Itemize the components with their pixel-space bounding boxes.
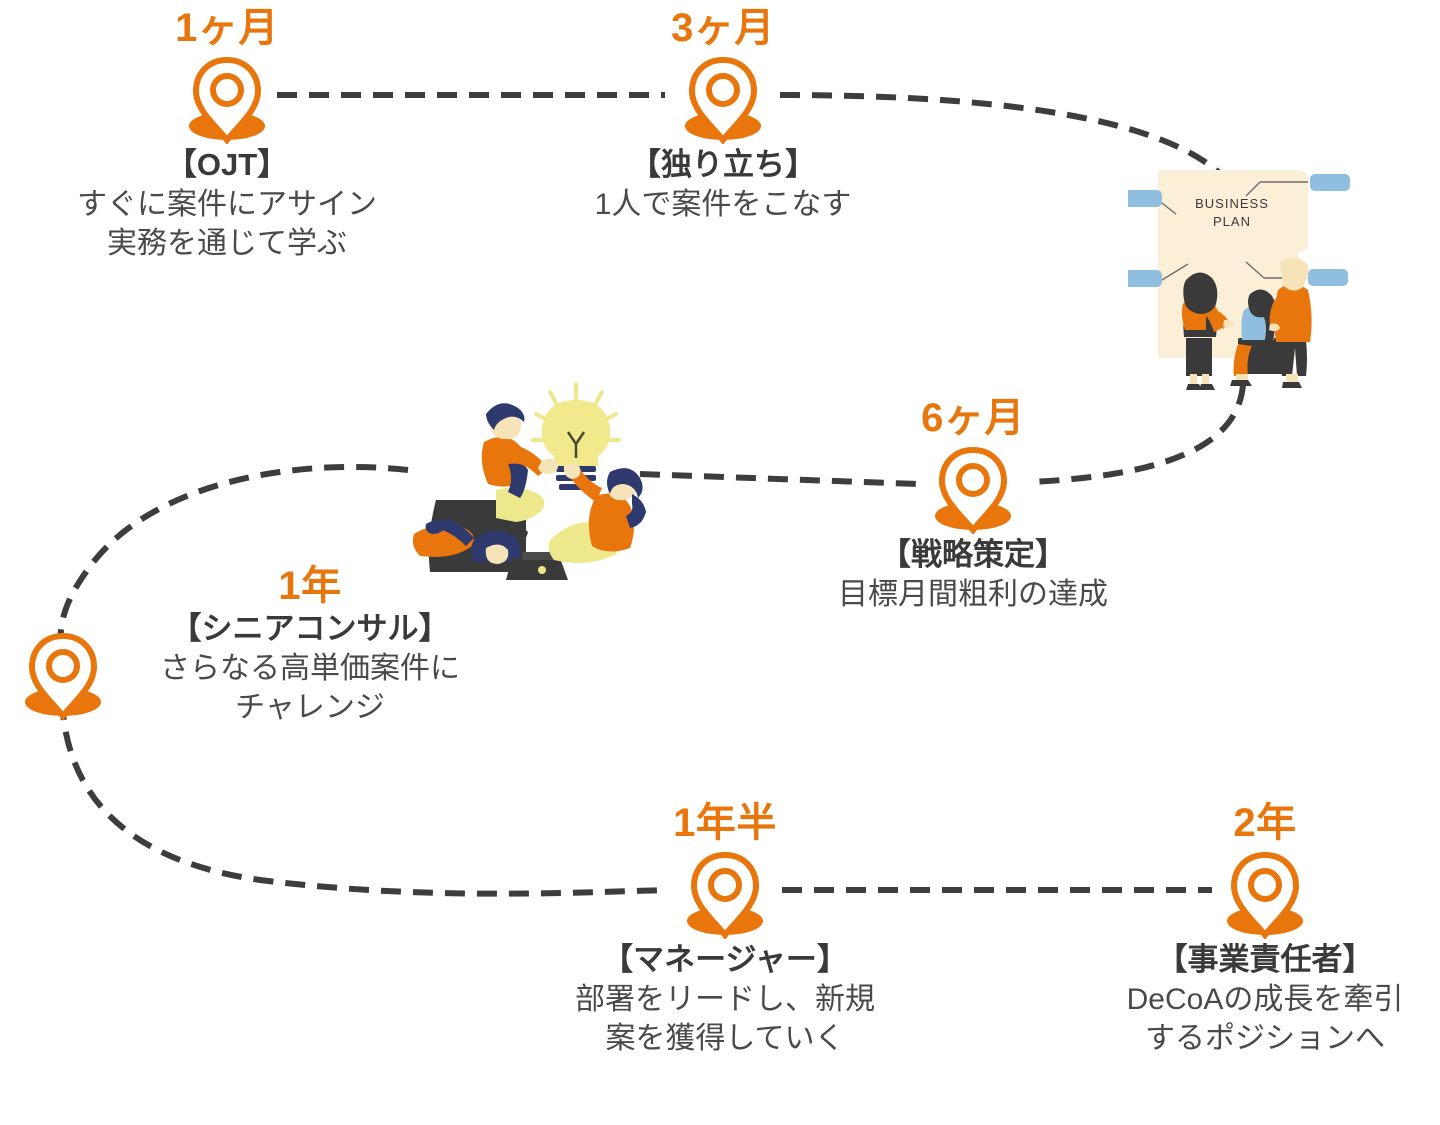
milestone-title: 【OJT】 (17, 146, 437, 185)
milestone-period: 6ヶ月 (763, 398, 1183, 438)
idea-lightbulb-illustration (400, 372, 664, 582)
map-pin-icon (763, 438, 1183, 534)
milestone-title: 【戦略策定】 (763, 536, 1183, 575)
milestone-manager[interactable]: 1年半 【マネージャー】 部署をリードし、新規 案を獲得していく (515, 803, 935, 1058)
roadmap-canvas: BUSINESS PLAN (0, 0, 1440, 1125)
milestone-period: 3ヶ月 (513, 8, 933, 48)
milestone-period: 2年 (1055, 803, 1440, 843)
milestone-desc: 1人で案件をこなす (513, 185, 933, 224)
milestone-ojt[interactable]: 1ヶ月 【OJT】 すぐに案件にアサイン 実務を通じて学ぶ (17, 8, 437, 263)
board-title-line1: BUSINESS (1195, 196, 1269, 211)
milestone-title: 【シニアコンサル】 (110, 610, 510, 649)
milestone-strategy[interactable]: 6ヶ月 【戦略策定】 目標月間粗利の達成 (763, 398, 1183, 614)
milestone-desc: 目標月間粗利の達成 (763, 575, 1183, 614)
map-pin-icon (20, 628, 106, 725)
board-title-line2: PLAN (1213, 214, 1251, 229)
milestone-desc: DeCoAの成長を牽引 するポジションへ (1055, 980, 1440, 1058)
milestone-period: 1年 (110, 566, 510, 606)
milestone-desc: すぐに案件にアサイン 実務を通じて学ぶ (17, 185, 437, 263)
business-plan-illustration: BUSINESS PLAN (1128, 152, 1360, 392)
milestone-independent[interactable]: 3ヶ月 【独り立ち】 1人で案件をこなす (513, 8, 933, 224)
map-pin-icon (17, 48, 437, 144)
milestone-title: 【独り立ち】 (513, 146, 933, 185)
milestone-title: 【事業責任者】 (1055, 941, 1440, 980)
map-pin-icon (515, 843, 935, 939)
milestone-business-owner[interactable]: 2年 【事業責任者】 DeCoAの成長を牽引 するポジションへ (1055, 803, 1440, 1058)
milestone-period: 1ヶ月 (17, 8, 437, 48)
map-pin-icon (1055, 843, 1440, 939)
milestone-title: 【マネージャー】 (515, 941, 935, 980)
milestone-period: 1年半 (515, 803, 935, 843)
milestone-desc: 部署をリードし、新規 案を獲得していく (515, 980, 935, 1058)
map-pin-icon (513, 48, 933, 144)
milestone-desc: さらなる高単価案件に チャレンジ (110, 649, 510, 727)
